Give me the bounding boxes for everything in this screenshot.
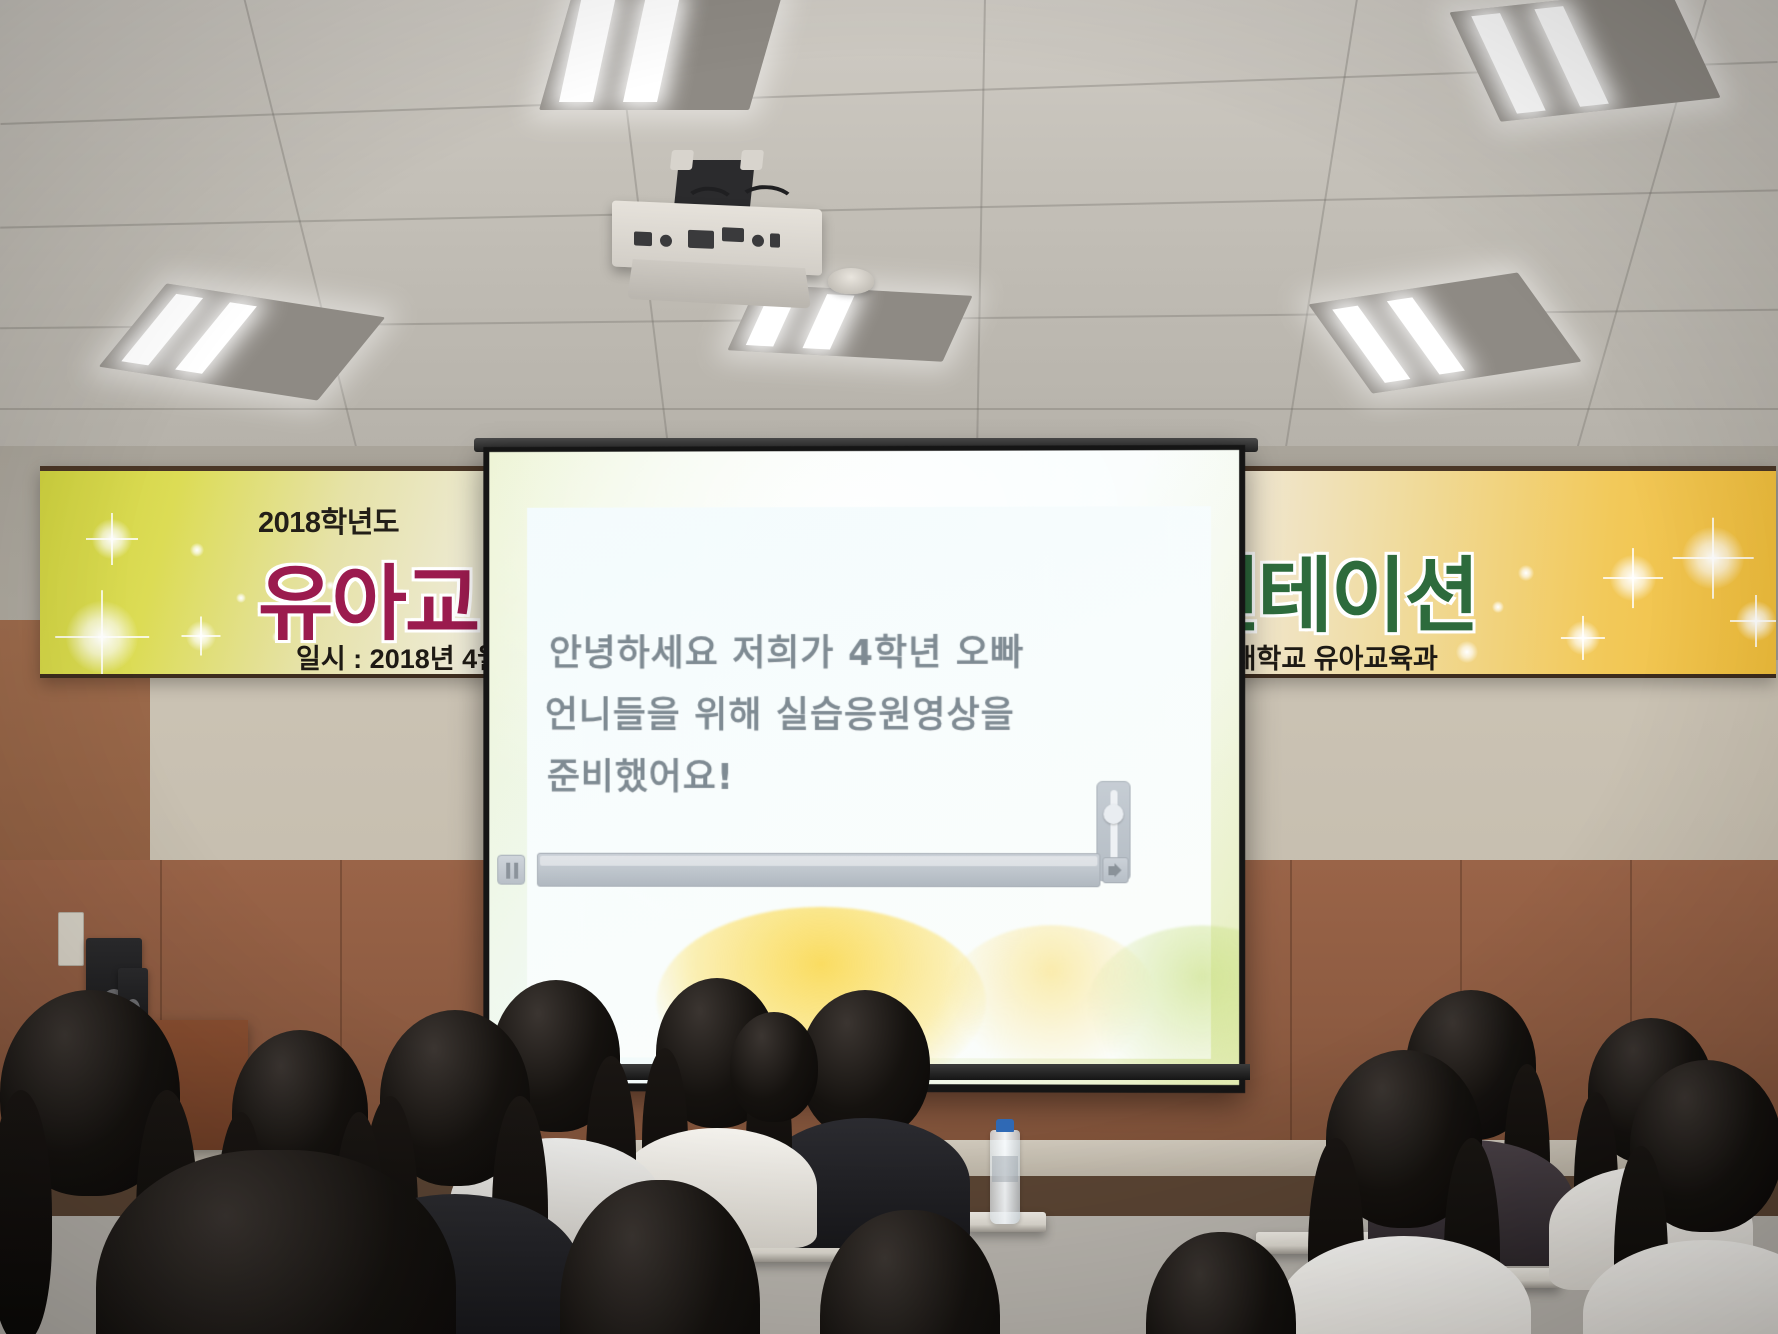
audience-person: [730, 1012, 818, 1192]
progress-bar[interactable]: [537, 853, 1100, 887]
slide-handwritten-text: 안녕하세요 저희가 4학년 오빠 언니들을 위해 실습응원영상을 준비했어요!: [549, 623, 1149, 809]
audience-person: [820, 1210, 1000, 1334]
banner-left: 2018학년도 유아교 일시 : 2018년 4월: [40, 466, 492, 678]
volume-knob[interactable]: [1103, 804, 1123, 824]
banner-right: 엔테이션 유원대학교 유아교육과: [1196, 466, 1776, 678]
slide-line-3: 준비했어요!: [547, 747, 1149, 809]
audience-person: [96, 1150, 456, 1334]
speaker-icon[interactable]: [1102, 857, 1128, 883]
slide-line-2: 언니들을 위해 실습응원영상을: [545, 685, 1149, 747]
smoke-detector-icon: [828, 268, 874, 294]
pause-icon[interactable]: [497, 855, 525, 885]
wall-plate: [58, 912, 84, 966]
audience-person: [1326, 1050, 1482, 1334]
audience-person: [800, 990, 930, 1230]
banner-left-date: 일시 : 2018년 4월: [296, 637, 492, 676]
media-control-bar: [489, 849, 1128, 890]
audience-person: [1630, 1060, 1778, 1334]
lecture-hall-photo: 2018학년도 유아교 일시 : 2018년 4월 엔테이션 유원대학교 유아교…: [0, 0, 1778, 1334]
ceiling-light: [539, 0, 783, 110]
slide-line-1: 안녕하세요 저희가 4학년 오빠: [549, 623, 1149, 686]
audience-person: [1146, 1232, 1296, 1334]
audience-person: [560, 1180, 760, 1334]
banner-left-year: 2018학년도: [258, 499, 399, 541]
